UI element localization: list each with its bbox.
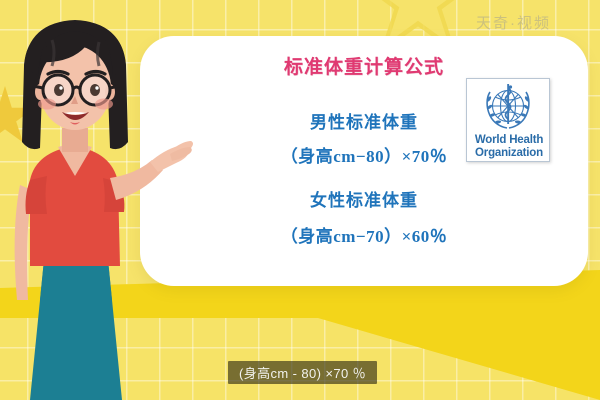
character-eye-left — [54, 84, 64, 96]
character-cheek-right — [95, 99, 113, 110]
who-emblem-icon — [481, 82, 535, 132]
presenter-character — [0, 0, 230, 400]
who-logo: World Health Organization — [466, 78, 550, 162]
subtitle-bar: (身高cm - 80) ×70 ％ — [228, 361, 377, 384]
who-logo-line2: Organization — [467, 147, 550, 160]
character-neck — [62, 128, 88, 152]
who-logo-line1: World Health — [467, 134, 550, 147]
watermark: 天奇·视频 — [476, 12, 551, 33]
who-logo-text: World Health Organization — [467, 134, 550, 159]
video-frame: 天奇·视频 标准体重计算公式 男性标准体重 （身高cm−80）×70％ 女性标准… — [0, 0, 600, 400]
character-eye-right — [90, 84, 100, 96]
character-hand — [150, 141, 193, 172]
subtitle-text: (身高cm - 80) ×70 ％ — [239, 363, 366, 382]
character-cheek-left — [38, 99, 56, 110]
